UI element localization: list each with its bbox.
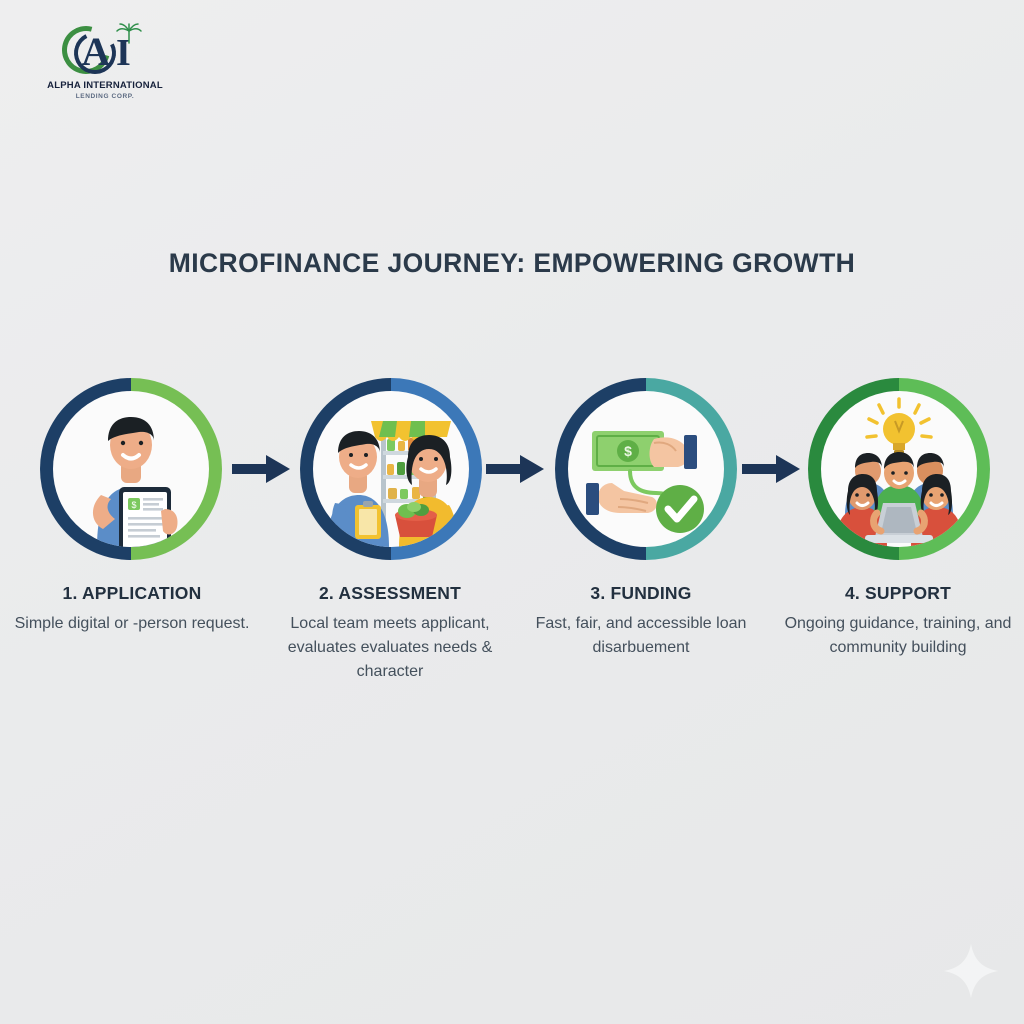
palm-tree-icon: [114, 22, 144, 44]
step-3-circle[interactable]: $: [555, 378, 737, 560]
brand-subtitle: LENDING CORP.: [30, 93, 180, 100]
arrow-right-icon-1: [232, 454, 290, 484]
step-2-icon-area: [313, 391, 469, 547]
step-1-description: Simple digital or -person request.: [14, 612, 250, 636]
market-stall-assessment-icon: [313, 391, 469, 547]
step-4-title: 4. SUPPORT: [780, 583, 1016, 604]
four-point-star-sparkle-icon: [942, 942, 1000, 1000]
arrow-right-icon-2: [486, 454, 544, 484]
step-2-description: Local team meets applicant, evaluates ev…: [272, 612, 508, 684]
step-4-circle[interactable]: [808, 378, 990, 560]
brand-logo: A I ALPHA INTERNATIONAL LENDING CORP.: [30, 22, 180, 114]
infographic-canvas: A I ALPHA INTERNATIONAL LENDING CORP. MI…: [0, 0, 1024, 1024]
step-1-title: 1. APPLICATION: [14, 583, 250, 604]
person-with-tablet-application-icon: $: [53, 391, 209, 547]
logo-letter-a: A: [76, 30, 116, 74]
step-3-description: Fast, fair, and accessible loan disarbue…: [523, 612, 759, 660]
step-3-caption: 3. FUNDING Fast, fair, and accessible lo…: [523, 583, 759, 660]
arrow-right-icon-3: [742, 454, 800, 484]
step-1-caption: 1. APPLICATION Simple digital or -person…: [14, 583, 250, 636]
cash-handoff-checkmark-funding-icon: $: [568, 391, 724, 547]
step-2-title: 2. ASSESSMENT: [272, 583, 508, 604]
brand-name: ALPHA INTERNATIONAL: [30, 80, 180, 91]
step-1-circle[interactable]: $: [40, 378, 222, 560]
team-laptop-lightbulb-support-icon: [821, 391, 977, 547]
step-2-caption: 2. ASSESSMENT Local team meets applicant…: [272, 583, 508, 684]
process-flow-row: $: [0, 378, 1024, 568]
svg-text:$: $: [131, 500, 136, 510]
step-4-icon-area: [821, 391, 977, 547]
step-4-description: Ongoing guidance, training, and communit…: [780, 612, 1016, 660]
page-title: MICROFINANCE JOURNEY: EMPOWERING GROWTH: [0, 248, 1024, 279]
svg-text:$: $: [624, 443, 632, 459]
step-2-circle[interactable]: [300, 378, 482, 560]
step-3-icon-area: $: [568, 391, 724, 547]
logo-mark: A I: [50, 22, 160, 80]
step-3-title: 3. FUNDING: [523, 583, 759, 604]
step-1-icon-area: $: [53, 391, 209, 547]
step-4-caption: 4. SUPPORT Ongoing guidance, training, a…: [780, 583, 1016, 660]
